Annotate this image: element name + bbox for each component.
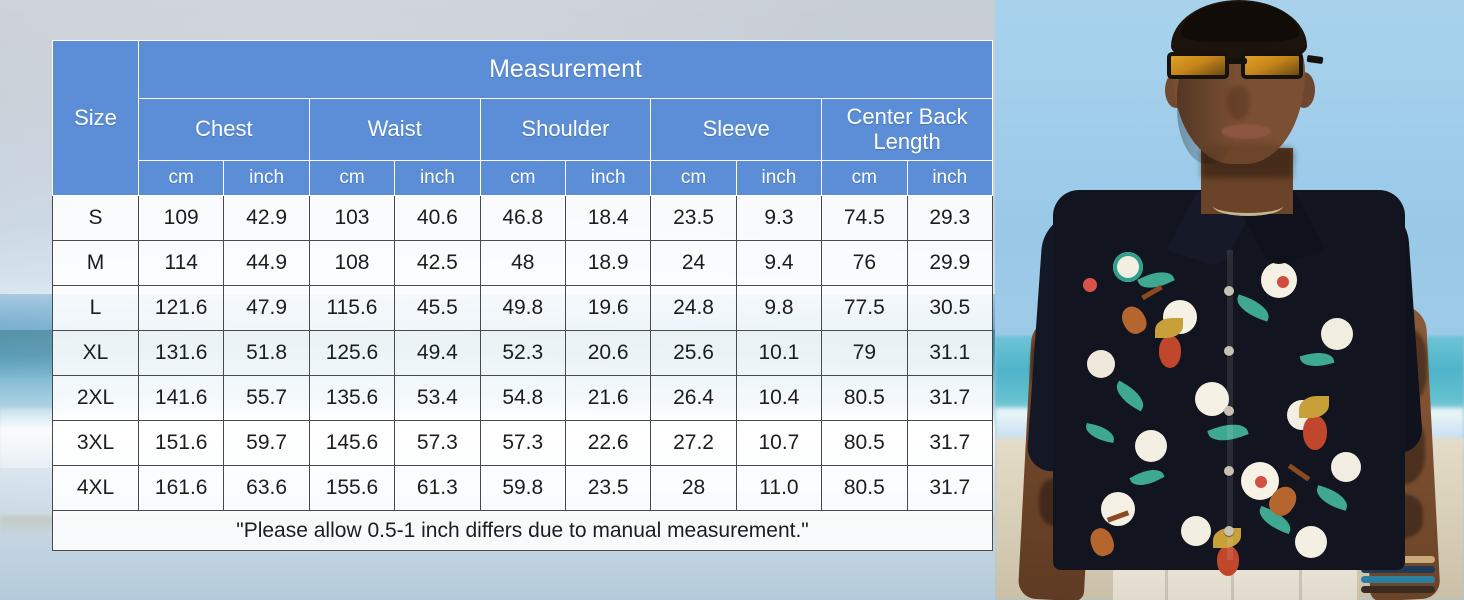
header-unit-cbl-cm: cm bbox=[822, 161, 907, 196]
cell: 109 bbox=[139, 196, 224, 241]
cell: 28 bbox=[651, 466, 736, 511]
cell: 80.5 bbox=[822, 376, 907, 421]
row-size-label: 3XL bbox=[53, 421, 139, 466]
table-row: XL 131.6 51.8 125.6 49.4 52.3 20.6 25.6 … bbox=[53, 331, 993, 376]
cell: 57.3 bbox=[395, 421, 480, 466]
cell: 30.5 bbox=[907, 286, 993, 331]
screenshot-root: Size Measurement Chest Waist Shoulder Sl… bbox=[0, 0, 1464, 600]
cell: 24.8 bbox=[651, 286, 736, 331]
cell: 20.6 bbox=[565, 331, 650, 376]
bracelet bbox=[1361, 576, 1435, 583]
cell: 79 bbox=[822, 331, 907, 376]
cell: 53.4 bbox=[395, 376, 480, 421]
cell: 57.3 bbox=[480, 421, 565, 466]
header-row-measurement: Size Measurement bbox=[53, 41, 993, 99]
header-unit-sleeve-cm: cm bbox=[651, 161, 736, 196]
cell: 114 bbox=[139, 241, 224, 286]
cell: 80.5 bbox=[822, 466, 907, 511]
cell: 10.1 bbox=[736, 331, 821, 376]
cell: 54.8 bbox=[480, 376, 565, 421]
cell: 155.6 bbox=[309, 466, 394, 511]
cell: 31.7 bbox=[907, 421, 993, 466]
sunglasses-lens-right bbox=[1241, 52, 1303, 79]
cell: 29.9 bbox=[907, 241, 993, 286]
cell: 55.7 bbox=[224, 376, 309, 421]
cell: 47.9 bbox=[224, 286, 309, 331]
header-unit-shoulder-inch: inch bbox=[565, 161, 650, 196]
header-row-units: cm inch cm inch cm inch cm inch cm inch bbox=[53, 161, 993, 196]
header-unit-waist-inch: inch bbox=[395, 161, 480, 196]
cell: 23.5 bbox=[651, 196, 736, 241]
cell: 161.6 bbox=[139, 466, 224, 511]
header-group-shoulder: Shoulder bbox=[480, 99, 651, 161]
table-row: 2XL 141.6 55.7 135.6 53.4 54.8 21.6 26.4… bbox=[53, 376, 993, 421]
cell: 10.4 bbox=[736, 376, 821, 421]
cell: 80.5 bbox=[822, 421, 907, 466]
shirt-flower bbox=[1113, 252, 1143, 282]
cell: 18.9 bbox=[565, 241, 650, 286]
shirt-flower bbox=[1321, 318, 1353, 350]
cell: 51.8 bbox=[224, 331, 309, 376]
shirt-flower-center bbox=[1277, 276, 1289, 288]
table-footer-row: "Please allow 0.5-1 inch differs due to … bbox=[53, 511, 993, 551]
model-photo bbox=[995, 0, 1464, 600]
table-row: L 121.6 47.9 115.6 45.5 49.8 19.6 24.8 9… bbox=[53, 286, 993, 331]
cell: 63.6 bbox=[224, 466, 309, 511]
measurement-disclaimer-note: "Please allow 0.5-1 inch differs due to … bbox=[53, 511, 993, 551]
cell: 125.6 bbox=[309, 331, 394, 376]
cell: 151.6 bbox=[139, 421, 224, 466]
cell: 9.4 bbox=[736, 241, 821, 286]
header-group-center-back-length: Center Back Length bbox=[822, 99, 993, 161]
sunglasses-temple bbox=[1307, 55, 1324, 64]
cell: 44.9 bbox=[224, 241, 309, 286]
cell: 59.8 bbox=[480, 466, 565, 511]
sunglasses-bridge bbox=[1227, 58, 1247, 64]
header-row-groups: Chest Waist Shoulder Sleeve Center Back … bbox=[53, 99, 993, 161]
cell: 9.3 bbox=[736, 196, 821, 241]
shirt-flower bbox=[1087, 350, 1115, 378]
shirt-flower-center bbox=[1255, 476, 1267, 488]
header-unit-shoulder-cm: cm bbox=[480, 161, 565, 196]
cell: 115.6 bbox=[309, 286, 394, 331]
header-unit-cbl-inch: inch bbox=[907, 161, 993, 196]
cell: 145.6 bbox=[309, 421, 394, 466]
cell: 25.6 bbox=[651, 331, 736, 376]
shirt-pineapple bbox=[1159, 336, 1181, 368]
shirt-placket bbox=[1227, 250, 1233, 560]
cell: 11.0 bbox=[736, 466, 821, 511]
cell: 121.6 bbox=[139, 286, 224, 331]
cell: 40.6 bbox=[395, 196, 480, 241]
size-chart-container: Size Measurement Chest Waist Shoulder Sl… bbox=[52, 40, 992, 551]
row-size-label: L bbox=[53, 286, 139, 331]
cell: 74.5 bbox=[822, 196, 907, 241]
cell: 46.8 bbox=[480, 196, 565, 241]
cell: 52.3 bbox=[480, 331, 565, 376]
cell: 9.8 bbox=[736, 286, 821, 331]
cell: 18.4 bbox=[565, 196, 650, 241]
header-size: Size bbox=[53, 41, 139, 196]
cell: 141.6 bbox=[139, 376, 224, 421]
shirt-button bbox=[1224, 346, 1234, 356]
shirt-button bbox=[1224, 526, 1234, 536]
table-row: 3XL 151.6 59.7 145.6 57.3 57.3 22.6 27.2… bbox=[53, 421, 993, 466]
cell: 61.3 bbox=[395, 466, 480, 511]
row-size-label: S bbox=[53, 196, 139, 241]
cell: 49.8 bbox=[480, 286, 565, 331]
table-body: S 109 42.9 103 40.6 46.8 18.4 23.5 9.3 7… bbox=[53, 196, 993, 551]
cell: 45.5 bbox=[395, 286, 480, 331]
row-size-label: 2XL bbox=[53, 376, 139, 421]
sunglasses-icon bbox=[1165, 48, 1313, 82]
row-size-label: XL bbox=[53, 331, 139, 376]
cell: 135.6 bbox=[309, 376, 394, 421]
header-group-waist: Waist bbox=[309, 99, 480, 161]
size-chart-table: Size Measurement Chest Waist Shoulder Sl… bbox=[52, 40, 993, 551]
cell: 23.5 bbox=[565, 466, 650, 511]
header-unit-chest-inch: inch bbox=[224, 161, 309, 196]
header-unit-waist-cm: cm bbox=[309, 161, 394, 196]
header-group-chest: Chest bbox=[139, 99, 310, 161]
shirt-flower bbox=[1295, 526, 1327, 558]
necklace bbox=[1213, 196, 1283, 216]
cell: 21.6 bbox=[565, 376, 650, 421]
cell: 42.5 bbox=[395, 241, 480, 286]
cell: 59.7 bbox=[224, 421, 309, 466]
cell: 27.2 bbox=[651, 421, 736, 466]
shirt-flower bbox=[1135, 430, 1167, 462]
shirt-button bbox=[1224, 466, 1234, 476]
cell: 103 bbox=[309, 196, 394, 241]
cell: 131.6 bbox=[139, 331, 224, 376]
cell: 48 bbox=[480, 241, 565, 286]
shirt-flower bbox=[1331, 452, 1361, 482]
shirt-button bbox=[1224, 406, 1234, 416]
cell: 22.6 bbox=[565, 421, 650, 466]
cell: 49.4 bbox=[395, 331, 480, 376]
cell: 24 bbox=[651, 241, 736, 286]
shirt-button bbox=[1224, 286, 1234, 296]
cell: 29.3 bbox=[907, 196, 993, 241]
cell: 10.7 bbox=[736, 421, 821, 466]
cell: 31.1 bbox=[907, 331, 993, 376]
cell: 108 bbox=[309, 241, 394, 286]
table-row: 4XL 161.6 63.6 155.6 61.3 59.8 23.5 28 1… bbox=[53, 466, 993, 511]
model-lips bbox=[1221, 124, 1271, 139]
cell: 42.9 bbox=[224, 196, 309, 241]
model-chin bbox=[1201, 142, 1295, 172]
header-unit-chest-cm: cm bbox=[139, 161, 224, 196]
cell: 26.4 bbox=[651, 376, 736, 421]
table-row: M 114 44.9 108 42.5 48 18.9 24 9.4 76 29… bbox=[53, 241, 993, 286]
table-head: Size Measurement Chest Waist Shoulder Sl… bbox=[53, 41, 993, 196]
sunglasses-lens-left bbox=[1167, 52, 1229, 79]
bracelet bbox=[1361, 586, 1435, 593]
table-row: S 109 42.9 103 40.6 46.8 18.4 23.5 9.3 7… bbox=[53, 196, 993, 241]
shirt-pineapple bbox=[1303, 416, 1327, 450]
cell: 31.7 bbox=[907, 376, 993, 421]
header-measurement: Measurement bbox=[139, 41, 993, 99]
row-size-label: M bbox=[53, 241, 139, 286]
cell: 77.5 bbox=[822, 286, 907, 331]
shirt-flower bbox=[1181, 516, 1211, 546]
cell: 19.6 bbox=[565, 286, 650, 331]
model-nose bbox=[1227, 86, 1249, 120]
shirt-flower-center bbox=[1083, 278, 1097, 292]
cell: 76 bbox=[822, 241, 907, 286]
shirt-flower bbox=[1101, 492, 1135, 526]
cell: 31.7 bbox=[907, 466, 993, 511]
row-size-label: 4XL bbox=[53, 466, 139, 511]
header-unit-sleeve-inch: inch bbox=[736, 161, 821, 196]
header-group-sleeve: Sleeve bbox=[651, 99, 822, 161]
